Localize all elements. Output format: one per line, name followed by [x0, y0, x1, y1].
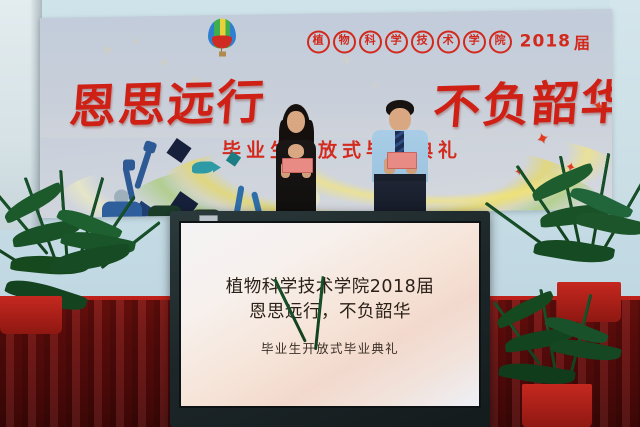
- dept-char: 学: [385, 30, 408, 53]
- slogan-left-text: 恩思远行: [67, 63, 269, 137]
- dept-char: 植: [307, 30, 330, 53]
- host-folder: [387, 152, 417, 169]
- potted-palm-left: [0, 168, 150, 328]
- banner-slogan: 恩思远行 不负韶华: [70, 66, 612, 135]
- dept-char: 技: [411, 30, 434, 53]
- dept-char: 院: [489, 30, 512, 53]
- host-belt: [374, 174, 426, 181]
- pale-bird-icon: ✈: [101, 43, 114, 58]
- host-face: [389, 108, 411, 132]
- photograph-scene: ✈ ✈ ✈ ✈ ✈ ✈ 植 物 科 学 技 术 学 院 2018 届: [0, 0, 640, 427]
- male-host: [368, 100, 434, 220]
- pale-bird-icon: ✈: [132, 37, 141, 47]
- fish-kite-icon: [192, 162, 214, 174]
- graduation-cap-icon: [228, 154, 239, 165]
- banner-department-line: 植 物 科 学 技 术 学 院 2018 届: [307, 30, 590, 54]
- slogan-right-text: 不负韶华: [431, 63, 612, 137]
- graduation-cap-icon: [170, 142, 188, 160]
- banner-year: 2018: [520, 32, 571, 52]
- female-host: [268, 104, 324, 220]
- foreground-palm-right: [498, 288, 640, 427]
- banner-year-suffix: 届: [574, 30, 590, 54]
- dept-char: 术: [437, 30, 460, 53]
- dept-char: 科: [359, 30, 382, 53]
- hot-air-balloon-icon: [208, 19, 236, 59]
- host-face: [287, 111, 305, 133]
- dept-char: 物: [333, 30, 356, 53]
- host-folder: [282, 158, 313, 173]
- host-neckline: [288, 144, 304, 158]
- dept-char: 学: [463, 30, 486, 53]
- potted-palm-center: [250, 272, 370, 427]
